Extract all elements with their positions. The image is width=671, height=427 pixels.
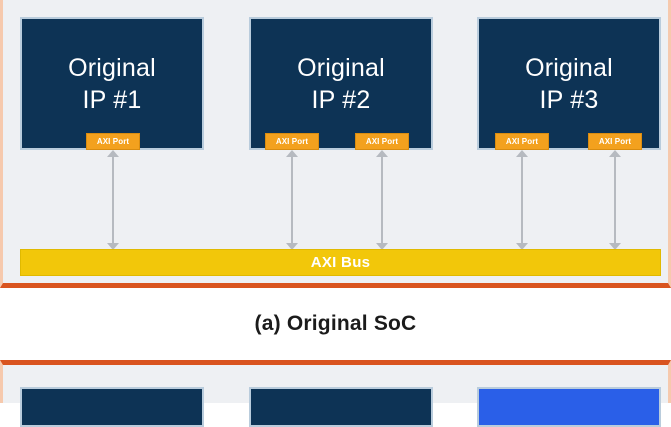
connector-arrow-ip3-0 <box>516 150 528 250</box>
panel-original-soc: Original IP #1 AXI Port Original IP #2 A… <box>0 0 671 288</box>
axi-port-ip2-0: AXI Port <box>265 133 319 150</box>
panel-b-ip-block-2 <box>249 387 433 427</box>
connector-arrow-ip2-1 <box>376 150 388 250</box>
ip-block-3-line1: Original <box>525 52 613 84</box>
figure-canvas: Original IP #1 AXI Port Original IP #2 A… <box>0 0 671 403</box>
axi-port-ip3-1: AXI Port <box>588 133 642 150</box>
ip-block-2-line1: Original <box>297 52 385 84</box>
connector-arrow-ip1-0 <box>107 150 119 250</box>
arrow-shaft <box>381 156 383 244</box>
arrow-shaft <box>112 156 114 244</box>
arrow-shaft <box>521 156 523 244</box>
connector-arrow-ip3-1 <box>609 150 621 250</box>
axi-port-ip3-0: AXI Port <box>495 133 549 150</box>
panel-modified-soc <box>0 360 671 403</box>
connector-arrow-ip2-0 <box>286 150 298 250</box>
axi-bus-bar: AXI Bus <box>20 249 661 276</box>
panel-b-ip-block-1 <box>20 387 204 427</box>
panel-a-caption: (a) Original SoC <box>0 293 671 355</box>
arrow-shaft <box>614 156 616 244</box>
axi-port-ip2-1: AXI Port <box>355 133 409 150</box>
ip-block-2-line2: IP #2 <box>312 84 371 116</box>
axi-port-ip1-0: AXI Port <box>86 133 140 150</box>
ip-block-1-line2: IP #1 <box>83 84 142 116</box>
ip-block-1: Original IP #1 <box>20 17 204 150</box>
ip-block-1-line1: Original <box>68 52 156 84</box>
ip-block-3: Original IP #3 <box>477 17 661 150</box>
ip-block-2: Original IP #2 <box>249 17 433 150</box>
arrow-shaft <box>291 156 293 244</box>
ip-block-3-line2: IP #3 <box>540 84 599 116</box>
panel-b-ip-block-3 <box>477 387 661 427</box>
